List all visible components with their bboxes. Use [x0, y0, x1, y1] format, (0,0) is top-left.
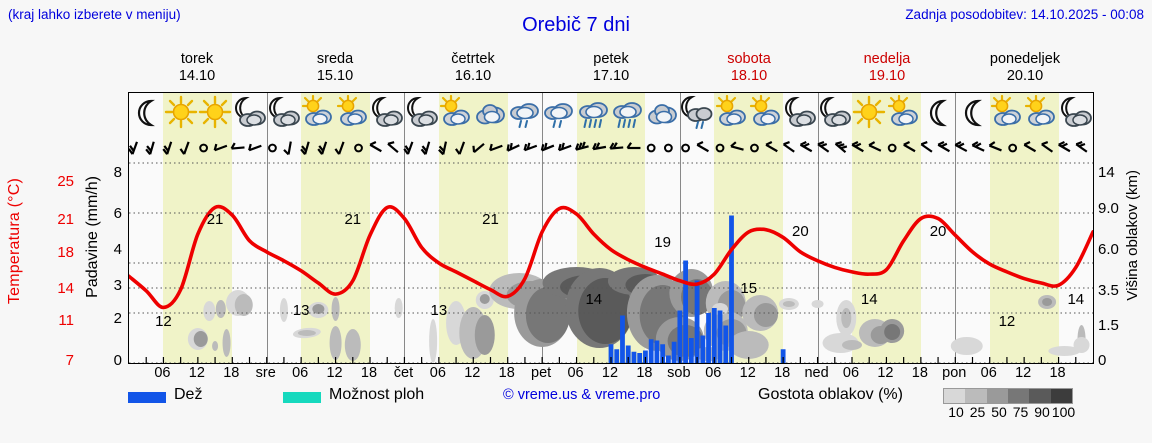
- x-axis-label: 06: [567, 365, 583, 381]
- wind-barbs: [129, 133, 1093, 163]
- temperature-axis-title: Temperatura (°C): [6, 178, 24, 304]
- x-axis-label: 12: [602, 365, 618, 381]
- weather-icon-sun-cloud: [887, 95, 921, 131]
- day-date: 18.10: [680, 68, 818, 85]
- x-axis-label: 12: [740, 365, 756, 381]
- cloud-density-tick-labels: 1025507590100: [940, 404, 1080, 422]
- x-axis-label: 12: [877, 365, 893, 381]
- day-name: sreda: [266, 51, 404, 68]
- day-date: 14.10: [128, 68, 266, 85]
- precipitation-tick: 3: [104, 277, 122, 294]
- x-axis-label: čet: [394, 365, 413, 381]
- x-axis-label: 12: [326, 365, 342, 381]
- x-axis-label: sre: [256, 365, 276, 381]
- day-name: sobota: [680, 51, 818, 68]
- weather-icon-sun-cloud: [439, 95, 473, 131]
- day-name: ponedeljek: [956, 51, 1094, 68]
- x-axis-label: 06: [292, 365, 308, 381]
- temperature-tick: 21: [40, 211, 74, 228]
- x-axis-label: sob: [667, 365, 690, 381]
- weather-icon-cloud-rain2: [577, 95, 611, 131]
- cloud-density-legend-label: Gostota oblakov (%): [758, 386, 903, 404]
- cloud-ramp-tick: 100: [1052, 404, 1075, 420]
- day-header-torek: torek14.10: [128, 48, 266, 90]
- day-date: 17.10: [542, 68, 680, 85]
- cloud-ramp-step: [965, 389, 986, 403]
- x-axis-label: 06: [981, 365, 997, 381]
- cloud-height-axis-title: Višina oblakov (km): [1124, 170, 1141, 301]
- day-header-sreda: sreda15.10: [266, 48, 404, 90]
- x-axis-label: pon: [942, 365, 966, 381]
- precipitation-tick: 8: [104, 164, 122, 181]
- weather-icon-sun-cloud: [336, 95, 370, 131]
- cloud-ramp-step: [944, 389, 965, 403]
- shower-legend-swatch: [283, 392, 321, 403]
- x-axis-label: pet: [531, 365, 551, 381]
- day-name: četrtek: [404, 51, 542, 68]
- temperature-tick: 14: [40, 280, 74, 297]
- weather-icon-moon: [129, 95, 163, 131]
- x-axis-label: 18: [774, 365, 790, 381]
- day-header-sobota: sobota18.10: [680, 48, 818, 90]
- weather-icon-cloud-rain2: [611, 95, 645, 131]
- weather-icon-moon-cloud: [267, 95, 301, 131]
- cloud-density-color-ramp: [943, 388, 1073, 404]
- x-axis-label: 12: [1015, 365, 1031, 381]
- cloud-ramp-tick: 75: [1013, 404, 1029, 420]
- weather-icon-moon: [956, 95, 990, 131]
- weather-icon-moon-cloud: [233, 95, 267, 131]
- day-header-strip: torek14.10sreda15.10četrtek16.10petek17.…: [128, 48, 1094, 90]
- precipitation-tick: 4: [104, 241, 122, 258]
- temperature-tick: 25: [40, 173, 74, 190]
- x-axis-label: 18: [361, 365, 377, 381]
- day-date: 16.10: [404, 68, 542, 85]
- day-header-četrtek: četrtek16.10: [404, 48, 542, 90]
- weather-icon-sun: [164, 95, 198, 131]
- weather-icon-sun-cloud: [990, 95, 1024, 131]
- x-axis-label: 06: [154, 365, 170, 381]
- cloud-height-tick: 9.0: [1098, 200, 1126, 217]
- x-axis-label: 06: [705, 365, 721, 381]
- precipitation-tick: 6: [104, 205, 122, 222]
- day-date: 19.10: [818, 68, 956, 85]
- cloud-ramp-tick: 90: [1034, 404, 1050, 420]
- weather-icon-moon-cloud: [405, 95, 439, 131]
- weather-icon-moon-cloud: [1059, 95, 1093, 131]
- x-axis-label: 06: [430, 365, 446, 381]
- cloud-ramp-tick: 50: [991, 404, 1007, 420]
- day-name: torek: [128, 51, 266, 68]
- x-axis-label: 18: [636, 365, 652, 381]
- x-axis-label: 18: [223, 365, 239, 381]
- cloud-ramp-step: [1029, 389, 1050, 403]
- precipitation-tick: 2: [104, 310, 122, 327]
- day-date: 20.10: [956, 68, 1094, 85]
- copyright-link[interactable]: © vreme.us & vreme.pro: [503, 387, 660, 403]
- day-header-nedelja: nedelja19.10: [818, 48, 956, 90]
- day-date: 15.10: [266, 68, 404, 85]
- cloud-ramp-tick: 25: [970, 404, 986, 420]
- x-axis-label: 18: [912, 365, 928, 381]
- x-axis-labels: 061218sre061218čet061218pet061218sob0612…: [128, 365, 1094, 385]
- precipitation-tick: 0: [104, 352, 122, 369]
- weather-icon-moon-cloud: [783, 95, 817, 131]
- cloud-ramp-step: [987, 389, 1008, 403]
- cloud-ramp-step: [1008, 389, 1029, 403]
- last-update-stamp: Zadnja posodobitev: 14.10.2025 - 00:08: [905, 7, 1144, 22]
- rain-legend-swatch: [128, 392, 166, 403]
- plot-body: 1221132113211419152014201214: [129, 163, 1093, 363]
- day-name: petek: [542, 51, 680, 68]
- weather-icon-moon-cloud: [818, 95, 852, 131]
- weather-icon-cloud: [474, 95, 508, 131]
- wind-barb-band: [129, 133, 1093, 163]
- weather-icon-moon: [921, 95, 955, 131]
- cloud-ramp-step: [1051, 389, 1072, 403]
- rain-legend-label: Dež: [174, 386, 202, 404]
- x-axis-label: 18: [499, 365, 515, 381]
- day-header-petek: petek17.10: [542, 48, 680, 90]
- precipitation-axis-title: Padavine (mm/h): [84, 176, 102, 298]
- x-axis-label: 18: [1049, 365, 1065, 381]
- weather-icon-sun: [198, 95, 232, 131]
- x-axis-label: 06: [843, 365, 859, 381]
- cloud-height-tick: 3.5: [1098, 282, 1126, 299]
- weather-icon-moon-cloud-rain: [680, 95, 714, 131]
- weather-icon-cloud-rain: [542, 95, 576, 131]
- x-axis-label: ned: [804, 365, 828, 381]
- chart-legend: Dež Možnost ploh © vreme.us & vreme.pro …: [128, 386, 1138, 426]
- x-axis-label: 12: [464, 365, 480, 381]
- weather-icon-moon-cloud: [370, 95, 404, 131]
- temperature-tick: 7: [40, 352, 74, 369]
- cloud-height-tick: 14: [1098, 164, 1126, 181]
- cloud-height-tick: 0: [1098, 352, 1126, 369]
- shower-legend-label: Možnost ploh: [329, 386, 424, 404]
- weather-icon-sun-cloud: [301, 95, 335, 131]
- x-axis-ticks: [129, 163, 1093, 363]
- weather-icon-sun: [852, 95, 886, 131]
- weather-icon-band: [129, 93, 1093, 133]
- cloud-ramp-tick: 10: [948, 404, 964, 420]
- temperature-tick: 18: [40, 244, 74, 261]
- weather-icon-cloud-rain: [508, 95, 542, 131]
- cloud-height-tick: 1.5: [1098, 317, 1126, 334]
- x-axis-label: 12: [189, 365, 205, 381]
- day-header-ponedeljek: ponedeljek20.10: [956, 48, 1094, 90]
- cloud-height-tick: 6.0: [1098, 241, 1126, 258]
- temperature-tick: 11: [40, 312, 74, 329]
- day-name: nedelja: [818, 51, 956, 68]
- weather-icon-sun-cloud: [1024, 95, 1058, 131]
- weather-icon-sun-cloud: [715, 95, 749, 131]
- weather-icon-cloud: [646, 95, 680, 131]
- weather-icon-sun-cloud: [749, 95, 783, 131]
- forecast-plot: 1221132113211419152014201214: [128, 92, 1094, 364]
